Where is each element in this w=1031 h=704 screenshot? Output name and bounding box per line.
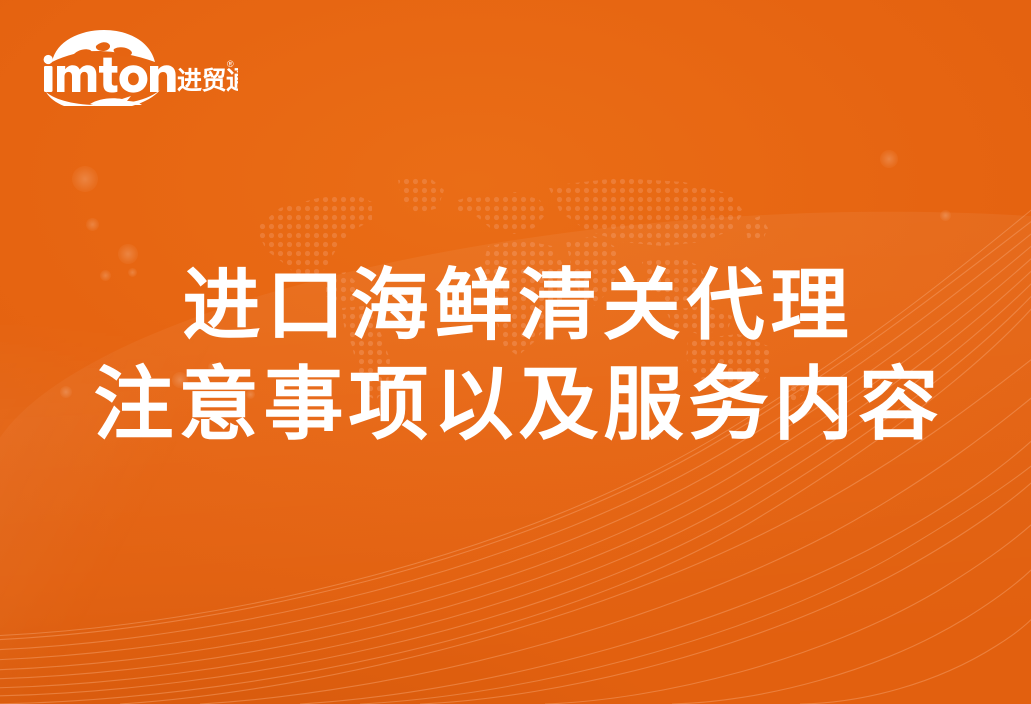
bokeh-dot (86, 218, 99, 231)
registered-trademark-icon: ® (227, 59, 234, 69)
headline-line-2: 注意事项以及服务内容 (0, 355, 1031, 455)
logo-wordmark (44, 55, 176, 93)
imton-logo[interactable]: 进贸通 ® (38, 26, 238, 106)
swoosh-bird-icon (46, 90, 160, 106)
globe-arc-icon (52, 30, 155, 62)
bokeh-dot (72, 166, 98, 192)
banner-poster: 进贸通 ® 进口海鲜清关代理 注意事项以及服务内容 (0, 0, 1031, 704)
headline-line-1: 进口海鲜清关代理 (0, 255, 1031, 355)
bokeh-dot (880, 150, 898, 168)
logo-chinese-name: 进贸通 (177, 67, 238, 95)
bokeh-dot (940, 210, 951, 221)
headline-block: 进口海鲜清关代理 注意事项以及服务内容 (0, 255, 1031, 455)
